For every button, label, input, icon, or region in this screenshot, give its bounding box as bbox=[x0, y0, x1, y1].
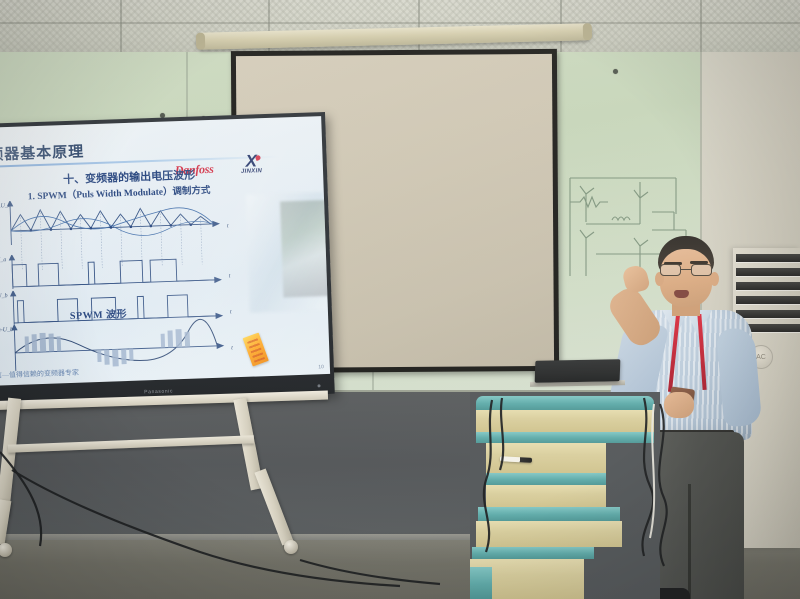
lectern-stripe-teal bbox=[476, 396, 654, 410]
jinxin-logo: X JINXIN bbox=[240, 154, 262, 175]
slide-page-number: 10 bbox=[318, 364, 324, 370]
tv-brand-label: Panasonic bbox=[144, 388, 173, 395]
axis-label-time: t bbox=[231, 345, 233, 351]
presenter-right-hand bbox=[664, 392, 694, 418]
roller-cap-left bbox=[196, 33, 205, 50]
axis-label-time: t bbox=[230, 309, 232, 315]
glasses-lens-left bbox=[660, 264, 681, 276]
laptop[interactable] bbox=[535, 359, 621, 383]
tv-screen[interactable]: 变频器基本原理 Danfoss X JINXIN 十、变频器的输出电压波形 1.… bbox=[0, 116, 330, 386]
spwm-waveform-label: SPWM 波形 bbox=[70, 305, 128, 322]
axis-label-phase-b: U_b bbox=[0, 293, 8, 299]
glasses-lens-right bbox=[691, 264, 712, 276]
lectern-stripe-cream bbox=[476, 410, 654, 432]
ceiling-grid-line bbox=[0, 22, 800, 24]
presenter-face bbox=[660, 249, 712, 307]
roller-cap-right bbox=[583, 23, 592, 40]
axis-label-carrier: U_r,U_c bbox=[0, 203, 11, 210]
cart-caster-right bbox=[284, 540, 298, 554]
lectern-stripe-teal bbox=[478, 507, 620, 521]
lectern-stripe-cream bbox=[486, 485, 606, 507]
lectern[interactable] bbox=[470, 392, 660, 599]
lectern-stripe-cream bbox=[476, 521, 622, 547]
axis-label-phase-a: U_a bbox=[0, 257, 6, 263]
wall-fastener bbox=[613, 69, 618, 74]
axis-label-line-voltage: U_a-U_b bbox=[0, 327, 13, 334]
glasses-bridge bbox=[681, 269, 691, 270]
tv-bezel: 变频器基本原理 Danfoss X JINXIN 十、变频器的输出电压波形 1.… bbox=[0, 112, 335, 406]
presenter-glasses bbox=[660, 264, 714, 276]
lectern-stripe-teal bbox=[470, 567, 492, 599]
presenter-right-arm bbox=[716, 327, 762, 428]
wheeled-tv-display[interactable]: 变频器基本原理 Danfoss X JINXIN 十、变频器的输出电压波形 1.… bbox=[0, 112, 335, 406]
presenter-mouth bbox=[674, 290, 689, 298]
presenter-leg-seam bbox=[688, 484, 691, 599]
lectern-stripe-teal bbox=[472, 547, 594, 559]
axis-label-time: t bbox=[227, 223, 229, 229]
classroom-scene: AC 变频器基本原理 Danfoss X JINXIN 十、变频器的输出电压波形… bbox=[0, 0, 800, 599]
axis-label-time: t bbox=[229, 273, 231, 279]
screen-glare bbox=[246, 192, 328, 313]
jinxin-logo-text: JINXIN bbox=[241, 168, 262, 175]
lectern-stripe-teal bbox=[486, 473, 606, 485]
tv-power-led bbox=[317, 384, 320, 387]
lectern-stripe-teal bbox=[476, 432, 654, 443]
